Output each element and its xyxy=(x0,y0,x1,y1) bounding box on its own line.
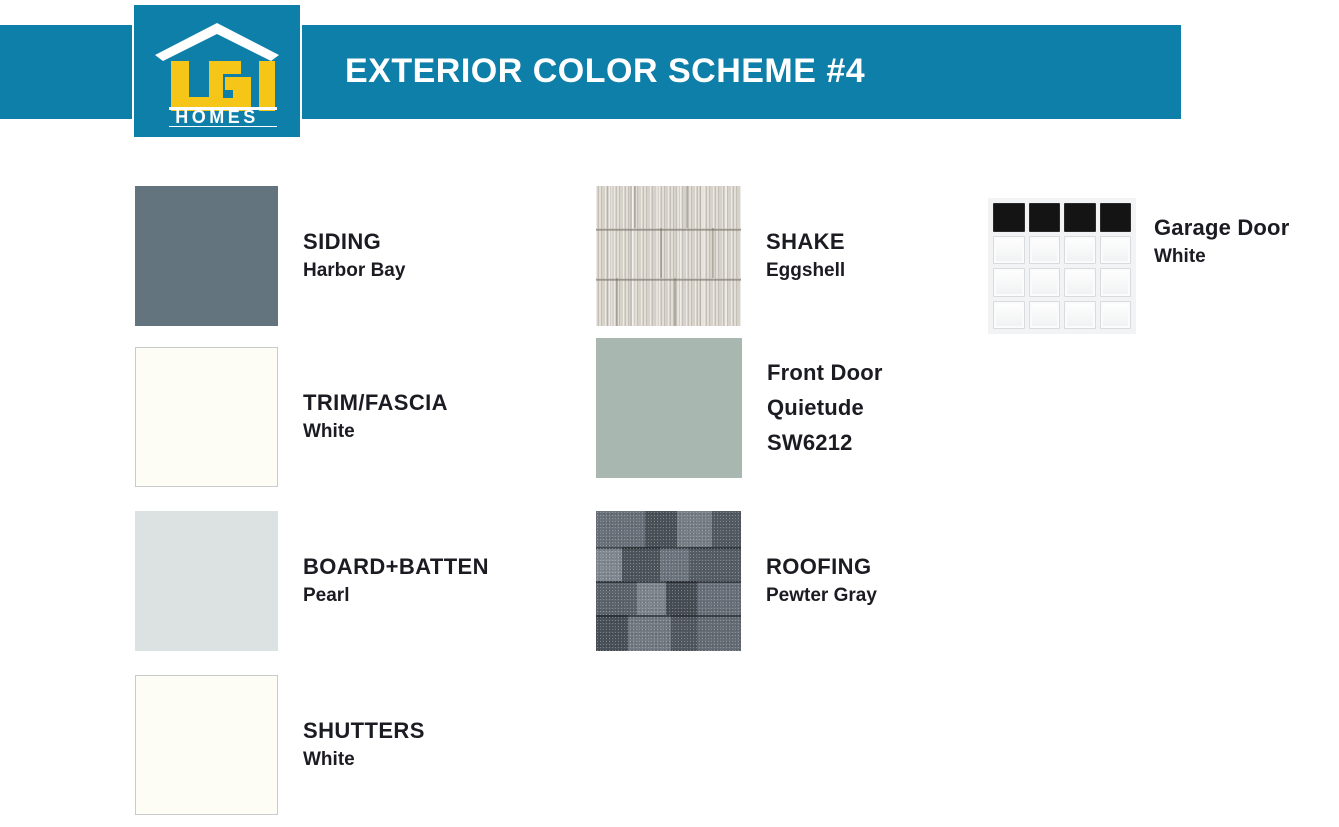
swatch-garage-door xyxy=(988,198,1136,334)
spec-color-shutters: White xyxy=(303,748,425,772)
garage-panel xyxy=(993,236,1025,265)
swatch-board-batten xyxy=(135,511,278,651)
labels-roofing: ROOFING Pewter Gray xyxy=(766,553,877,608)
shake-seam xyxy=(634,186,636,228)
labels-shake: SHAKE Eggshell xyxy=(766,228,845,283)
garage-row xyxy=(993,203,1131,232)
spec-item-shake: SHAKE Eggshell xyxy=(596,186,845,326)
labels-siding: SIDING Harbor Bay xyxy=(303,228,405,283)
shake-seam xyxy=(686,186,688,228)
logo-inner: HOMES xyxy=(134,5,300,137)
garage-panel xyxy=(1029,236,1061,265)
spec-color-siding: Harbor Bay xyxy=(303,259,405,283)
spec-item-roofing: ROOFING Pewter Gray xyxy=(596,511,877,651)
page-title: EXTERIOR COLOR SCHEME #4 xyxy=(345,52,865,91)
svg-text:HOMES: HOMES xyxy=(175,107,259,127)
spec-color-shake: Eggshell xyxy=(766,259,845,283)
shake-seam xyxy=(674,278,676,326)
spec-item-front-door: Front Door Quietude SW6212 xyxy=(596,338,883,478)
garage-panel xyxy=(1100,236,1132,265)
shake-seam xyxy=(660,228,662,278)
spec-color-garage-door: White xyxy=(1154,245,1289,269)
spec-color-trim-fascia: White xyxy=(303,420,448,444)
spec-color-board-batten: Pearl xyxy=(303,584,489,608)
swatch-roofing xyxy=(596,511,741,651)
spec-name-front-door: Front Door xyxy=(767,359,883,387)
spec-color-roofing: Pewter Gray xyxy=(766,584,877,608)
garage-panel xyxy=(1064,236,1096,265)
labels-board-batten: BOARD+BATTEN Pearl xyxy=(303,553,489,608)
spec-item-trim-fascia: TRIM/FASCIA White xyxy=(135,347,448,487)
labels-trim-fascia: TRIM/FASCIA White xyxy=(303,389,448,444)
shake-seam xyxy=(616,278,618,326)
labels-garage-door: Garage Door White xyxy=(1154,214,1289,269)
spec-item-shutters: SHUTTERS White xyxy=(135,675,425,815)
spec-name-shutters: SHUTTERS xyxy=(303,717,425,745)
spec-name-board-batten: BOARD+BATTEN xyxy=(303,553,489,581)
swatch-siding xyxy=(135,186,278,326)
swatch-shake xyxy=(596,186,741,326)
garage-panel xyxy=(1029,301,1061,330)
garage-panel xyxy=(1064,268,1096,297)
spec-color-code-front-door: SW6212 xyxy=(767,429,883,457)
garage-panel xyxy=(1029,268,1061,297)
shake-seam xyxy=(712,228,714,278)
spec-name-shake: SHAKE xyxy=(766,228,845,256)
spec-item-siding: SIDING Harbor Bay xyxy=(135,186,405,326)
lgi-homes-logo-icon: HOMES xyxy=(147,15,287,127)
spec-name-roofing: ROOFING xyxy=(766,553,877,581)
lgi-homes-logo: HOMES xyxy=(134,5,300,137)
spec-name-trim-fascia: TRIM/FASCIA xyxy=(303,389,448,417)
spec-color-front-door: Quietude xyxy=(767,394,883,422)
garage-window-panel xyxy=(993,203,1025,232)
garage-row xyxy=(993,236,1131,265)
spec-name-garage-door: Garage Door xyxy=(1154,214,1289,242)
swatch-front-door xyxy=(596,338,742,478)
spec-name-siding: SIDING xyxy=(303,228,405,256)
garage-panel xyxy=(993,268,1025,297)
labels-front-door: Front Door Quietude SW6212 xyxy=(767,359,883,457)
garage-window-panel xyxy=(1029,203,1061,232)
garage-row xyxy=(993,301,1131,330)
labels-shutters: SHUTTERS White xyxy=(303,717,425,772)
garage-window-panel xyxy=(1100,203,1132,232)
spec-item-garage-door: Garage Door White xyxy=(988,198,1289,334)
shingle-granule-texture xyxy=(596,511,741,651)
swatch-trim-fascia xyxy=(135,347,278,487)
shake-course-line xyxy=(596,228,741,231)
garage-window-panel xyxy=(1064,203,1096,232)
garage-panel xyxy=(1100,268,1132,297)
garage-panel xyxy=(993,301,1025,330)
garage-row xyxy=(993,268,1131,297)
swatch-shutters xyxy=(135,675,278,815)
garage-panel xyxy=(1064,301,1096,330)
spec-item-board-batten: BOARD+BATTEN Pearl xyxy=(135,511,489,651)
garage-panel xyxy=(1100,301,1132,330)
